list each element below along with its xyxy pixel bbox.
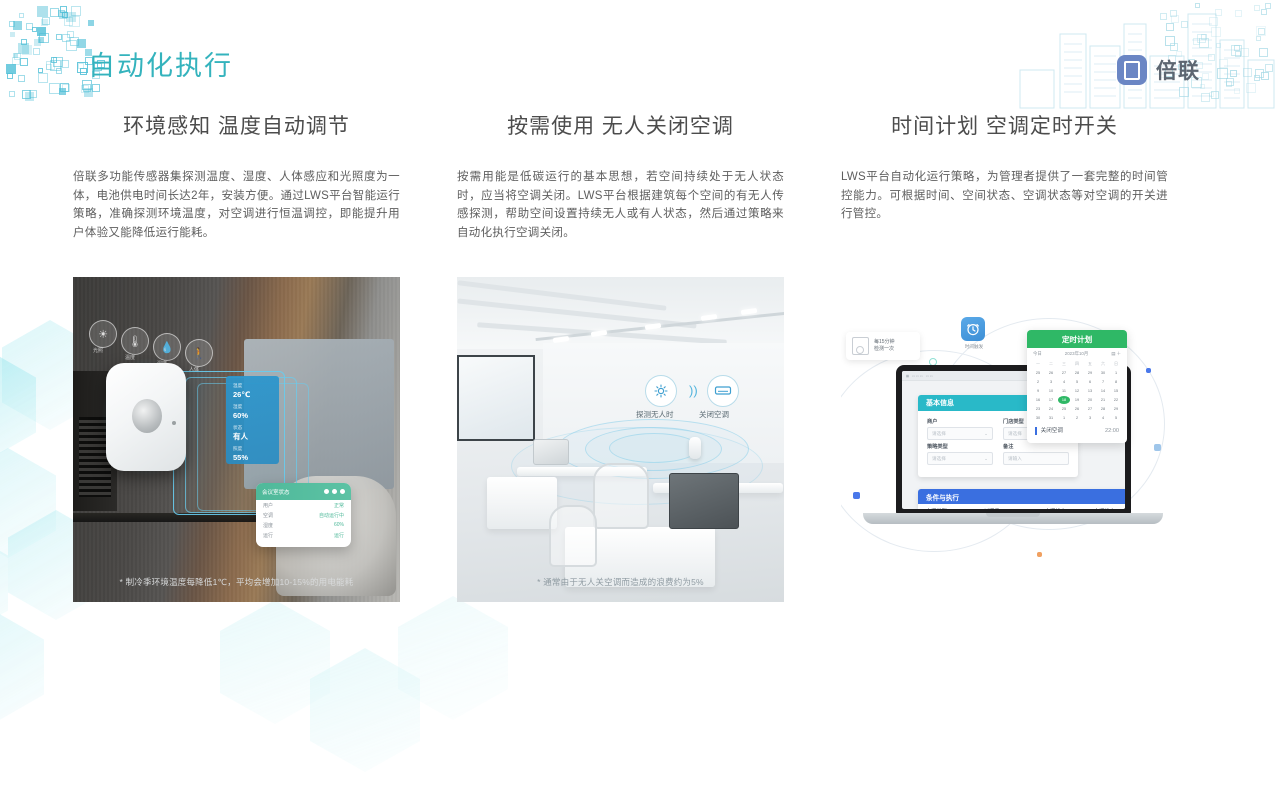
data-value-lux: 55%: [233, 452, 273, 463]
status-card-title: 会议室状态: [262, 488, 290, 496]
detection-interval-chip: 每15分钟 检测一次: [846, 332, 920, 360]
photo-on-demand: 探测无人时 )) 关闭空调 * 通常由于无人关空调而造成的浪费约为5%: [457, 277, 784, 602]
column-body: 按需用能是低碳运行的基本思想，若空间持续处于无人状态时，应当将空调关闭。LWS平…: [457, 168, 784, 242]
panel-timed-plan: 定时计划 今日 2023年10月 ▤ ＋ 一二三四五六日252627282930…: [1027, 330, 1127, 443]
calendar-day[interactable]: 30: [1032, 414, 1044, 422]
column-time-schedule: 时间计划 空调定时开关 LWS平台自动化运行策略，为管理者提供了一套完整的时间管…: [841, 112, 1168, 224]
calendar-day[interactable]: 28: [1071, 369, 1083, 377]
calendar-day[interactable]: 14: [1097, 387, 1109, 395]
page-title: 自动化执行: [88, 50, 233, 82]
calendar-day[interactable]: 1: [1110, 369, 1122, 377]
status-row-value: 运行: [334, 532, 344, 539]
calendar-day[interactable]: 17: [1045, 396, 1057, 404]
status-row: 湿度 60%: [256, 520, 351, 530]
calendar-day[interactable]: 5: [1110, 414, 1122, 422]
signal-wave-icon: )): [689, 383, 698, 398]
column-body: 倍联多功能传感器集探测温度、湿度、人体感应和光照度为一体，电池供电时间长达2年，…: [73, 168, 400, 242]
column-title: 按需使用 无人关闭空调: [457, 112, 784, 142]
calendar-weekday: 日: [1110, 360, 1122, 368]
status-dots-icon: [324, 489, 345, 494]
scan-document-icon: [852, 337, 869, 355]
calendar-weekday: 五: [1084, 360, 1096, 368]
status-row-value: 正常: [334, 502, 344, 509]
calendar-weekday: 四: [1071, 360, 1083, 368]
field-label-merchant: 商户: [927, 418, 993, 425]
calendar-day[interactable]: 6: [1084, 378, 1096, 386]
plan-action-row: 关闭空调 22:00: [1027, 426, 1127, 435]
decor-dot: [1037, 552, 1042, 557]
table-header-row: 空间类型 时间段 空间状态 空调状态 执行: [918, 504, 1125, 509]
column-title: 环境感知 温度自动调节: [73, 112, 400, 142]
calendar-day[interactable]: 15: [1110, 387, 1122, 395]
calendar-day[interactable]: 25: [1032, 369, 1044, 377]
calendar-day[interactable]: 21: [1097, 396, 1109, 404]
plan-action-label: 关闭空调: [1041, 428, 1063, 434]
calendar-weekday: 二: [1045, 360, 1057, 368]
calendar-day[interactable]: 10: [1045, 387, 1057, 395]
calendar-day[interactable]: 4: [1058, 378, 1070, 386]
status-row: 用户 正常: [256, 500, 351, 510]
status-row-label: 运行: [263, 532, 273, 539]
photo-caption: * 通常由于无人关空调而造成的浪费约为5%: [457, 576, 784, 588]
condition-table: 空间类型 时间段 空间状态 空调状态 执行 公共办公区 22:00-07:00 …: [918, 504, 1125, 509]
field-label-policy-type: 策略类型: [927, 443, 993, 450]
sensor-data-card: 温度 26℃ 湿度 60% 状态 有人 照度 55%: [226, 376, 279, 464]
data-key-lux: 照度: [233, 445, 273, 452]
chip-line-1: 每15分钟: [874, 339, 895, 345]
data-value-humidity: 60%: [233, 410, 273, 421]
badge-label-detect: 探测无人时: [636, 409, 674, 420]
decorative-hexagons-bottom: [200, 590, 540, 810]
status-row-label: 空调: [263, 512, 273, 519]
calendar-day[interactable]: 26: [1045, 369, 1057, 377]
calendar-day[interactable]: 11: [1058, 387, 1070, 395]
data-key-status: 状态: [233, 424, 273, 431]
calendar-day[interactable]: 29: [1110, 405, 1122, 413]
calendar-day[interactable]: 20: [1084, 396, 1096, 404]
calendar-day[interactable]: 30: [1097, 369, 1109, 377]
calendar-day[interactable]: 2: [1032, 378, 1044, 386]
data-value-temp: 26℃: [233, 389, 273, 400]
calendar-day[interactable]: 18: [1058, 396, 1070, 404]
calendar-day[interactable]: 28: [1097, 405, 1109, 413]
cal-today-label[interactable]: 今日: [1033, 351, 1042, 357]
calendar-weekday: 六: [1097, 360, 1109, 368]
calendar-day[interactable]: 27: [1058, 369, 1070, 377]
field-input-policy-type[interactable]: 请选择⌄: [927, 452, 993, 465]
panel-title: 条件与执行: [918, 489, 1125, 504]
col-space-type: 空间类型: [918, 504, 976, 509]
motion-sensor-icon: [645, 375, 677, 407]
thermometer-icon: 🌡: [121, 327, 149, 355]
calendar-day[interactable]: 29: [1084, 369, 1096, 377]
status-row: 空调 自动运行中: [256, 510, 351, 520]
chip-line-2: 检测一次: [874, 346, 894, 352]
field-input-merchant[interactable]: 请选择⌄: [927, 427, 993, 440]
meeting-room-status-card: 会议室状态 用户 正常 空调 自动运行中 湿度 60% 运行 运行: [256, 483, 351, 547]
chevron-down-icon: ⌄: [984, 456, 988, 462]
cal-view-icons[interactable]: ▤ ＋: [1111, 351, 1121, 357]
clock-trigger-label: 时间触发: [951, 344, 997, 350]
calendar-grid[interactable]: 一二三四五六日252627282930123456789101112131415…: [1027, 360, 1127, 422]
photo-env-sensing: ☀ 光照 🌡 温度 💧 湿度 🚶 人体 温度 26℃ 湿度 60% 状态 有人 …: [73, 277, 400, 602]
calendar-day[interactable]: 8: [1110, 378, 1122, 386]
calendar-day[interactable]: 24: [1045, 405, 1057, 413]
calendar-day[interactable]: 7: [1097, 378, 1109, 386]
field-input-remark[interactable]: 请输入: [1003, 452, 1069, 465]
status-row-label: 湿度: [263, 522, 273, 529]
calendar-day[interactable]: 5: [1071, 378, 1083, 386]
calendar-day[interactable]: 3: [1084, 414, 1096, 422]
calendar-day[interactable]: 22: [1110, 396, 1122, 404]
plan-action-time: 22:00: [1105, 428, 1119, 434]
brand-logo: 倍联: [1117, 55, 1200, 85]
decor-dot: [1146, 368, 1151, 373]
status-row: 运行 运行: [256, 530, 351, 540]
status-row-value: 60%: [334, 522, 344, 529]
calendar-day[interactable]: 12: [1071, 387, 1083, 395]
calendar-day[interactable]: 1: [1058, 414, 1070, 422]
calendar-day[interactable]: 3: [1045, 378, 1057, 386]
calendar-day[interactable]: 2: [1071, 414, 1083, 422]
badge-label-light: 光照: [93, 347, 103, 354]
column-body: LWS平台自动化运行策略，为管理者提供了一套完整的时间管控能力。可根据时间、空间…: [841, 168, 1168, 224]
status-row-label: 用户: [263, 502, 273, 509]
calendar-day[interactable]: 9: [1032, 387, 1044, 395]
calendar-day[interactable]: 4: [1097, 414, 1109, 422]
person-icon: 🚶: [185, 339, 213, 367]
photo-time-schedule: 每15分钟 检测一次 时间触发 ▦▭ ▭ ▭▭ ▭ 基本信息 商户 请选择⌄ 门…: [841, 310, 1171, 560]
calendar-weekday: 一: [1032, 360, 1044, 368]
alarm-clock-icon: [961, 317, 985, 341]
panel-title: 定时计划: [1027, 330, 1127, 348]
data-value-status: 有人: [233, 431, 273, 442]
square-logo-icon: [1117, 55, 1147, 85]
status-row-value: 自动运行中: [319, 512, 344, 519]
column-title: 时间计划 空调定时开关: [841, 112, 1168, 142]
calendar-day[interactable]: 16: [1032, 396, 1044, 404]
col-time-range: 时间段: [976, 504, 1037, 509]
chevron-down-icon: ⌄: [984, 431, 988, 437]
calendar-day[interactable]: 27: [1084, 405, 1096, 413]
field-label-remark: 备注: [1003, 443, 1069, 450]
pixel-cluster-right-icon: [1158, 2, 1278, 102]
decor-dot: [853, 492, 860, 499]
calendar-day[interactable]: 25: [1058, 405, 1070, 413]
data-key-humidity: 湿度: [233, 403, 273, 410]
photo-caption: * 制冷季环境温度每降低1℃，平均会增加10-15%的用电能耗: [73, 576, 400, 588]
calendar-weekday: 三: [1058, 360, 1070, 368]
badge-label-ac-off: 关闭空调: [699, 409, 729, 420]
brand-name: 倍联: [1156, 55, 1200, 85]
calendar-day[interactable]: 26: [1071, 405, 1083, 413]
calendar-day[interactable]: 31: [1045, 414, 1057, 422]
calendar-day[interactable]: 19: [1071, 396, 1083, 404]
detection-badges: 探测无人时 )) 关闭空调: [645, 375, 745, 423]
column-env-sensing: 环境感知 温度自动调节 倍联多功能传感器集探测温度、湿度、人体感应和光照度为一体…: [73, 112, 400, 242]
cal-month-label: 2023年10月: [1065, 351, 1088, 357]
calendar-day[interactable]: 13: [1084, 387, 1096, 395]
decor-dot: [1154, 444, 1161, 451]
panel-condition-execution: 条件与执行 空间类型 时间段 空间状态 空调状态 执行 公共办公区 22:00-…: [918, 489, 1125, 509]
col-ac-status: 空调状态: [1086, 504, 1125, 509]
calendar-day[interactable]: 23: [1032, 405, 1044, 413]
sun-icon: ☀: [89, 320, 117, 348]
col-space-status: 空间状态: [1037, 504, 1086, 509]
column-on-demand: 按需使用 无人关闭空调 按需用能是低碳运行的基本思想，若空间持续处于无人状态时，…: [457, 112, 784, 242]
data-key-temp: 温度: [233, 382, 273, 389]
air-conditioner-icon: [707, 375, 739, 407]
